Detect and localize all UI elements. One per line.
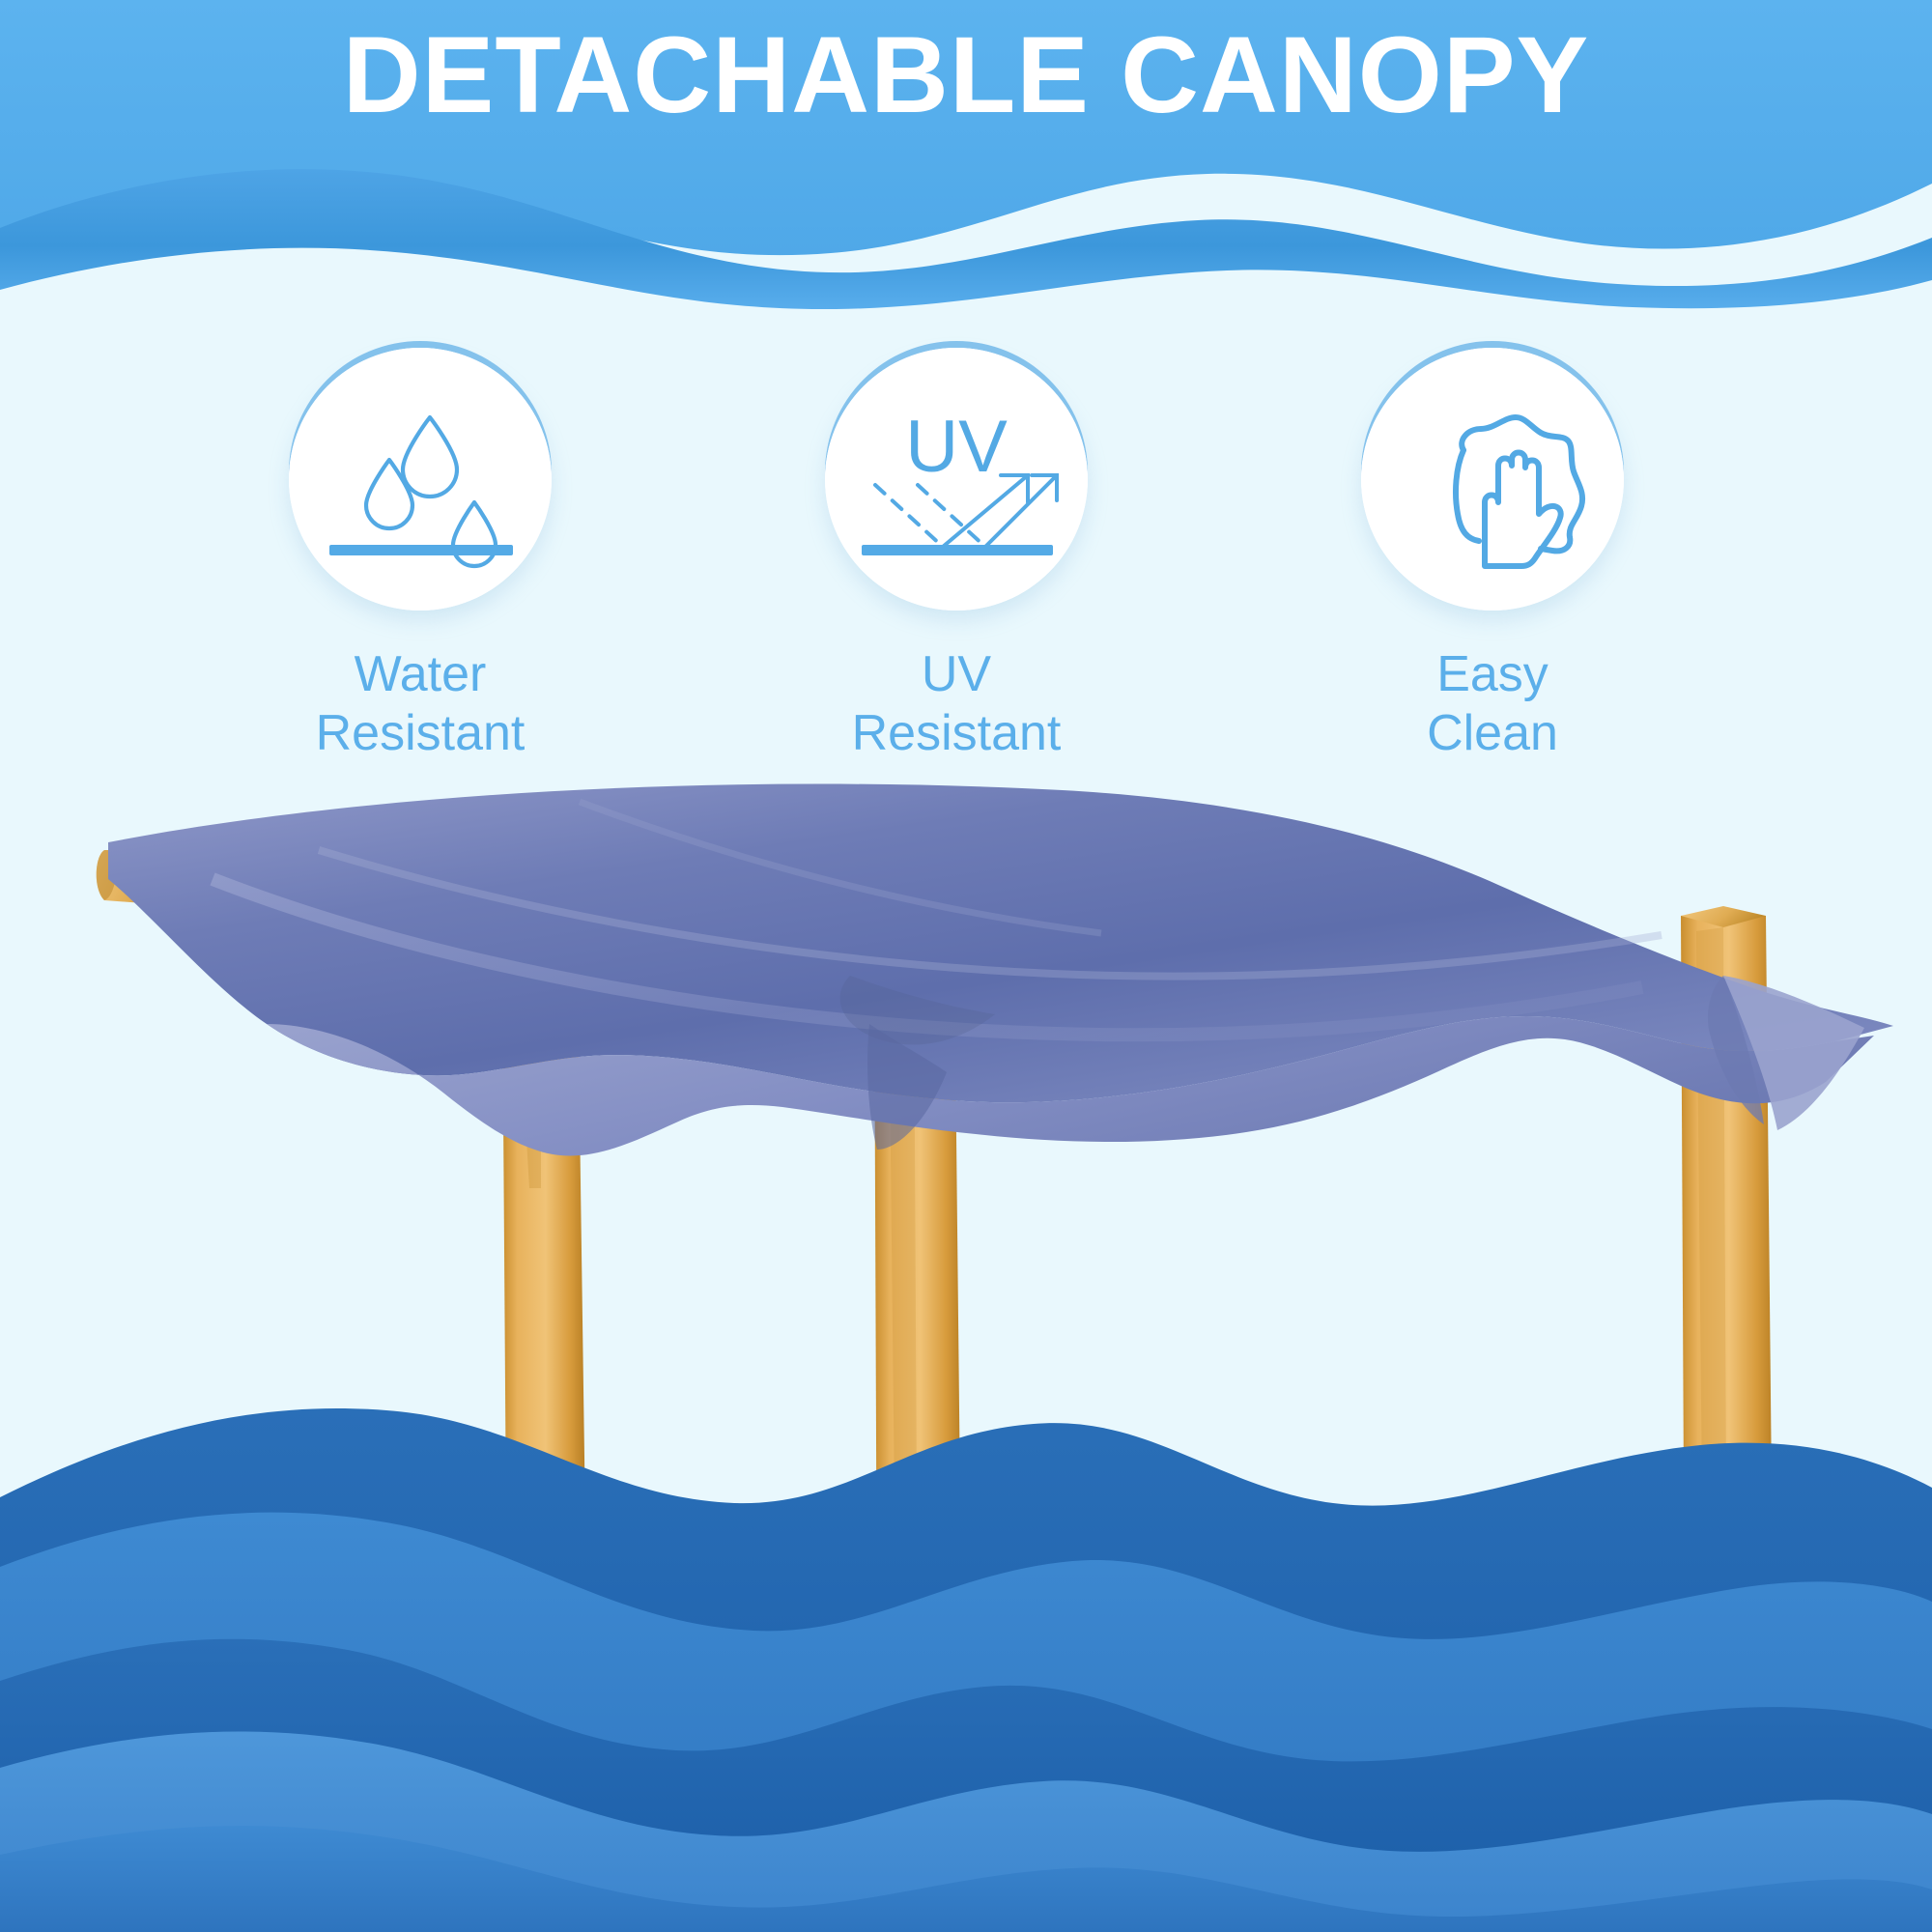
uv-incoming-ray-1 [875, 485, 943, 547]
feature-label-uv-line2: Resistant [753, 704, 1159, 763]
feature-water-resistant[interactable]: Water Resistant [217, 348, 623, 764]
feature-easy-clean[interactable]: Easy Clean [1290, 348, 1695, 764]
uv-surface-bar [862, 545, 1053, 555]
uv-rays-icon: UV [825, 348, 1088, 611]
cloth-shape [1462, 417, 1582, 551]
feature-label-clean-line2: Clean [1290, 704, 1695, 763]
water-drops-icon [289, 348, 552, 611]
product-feature-poster: DETACHABLE CANOPY Water [0, 0, 1932, 1932]
badge-circle-water [289, 348, 552, 611]
feature-label-uv-line1: UV [753, 645, 1159, 704]
uv-icon-text: UV [905, 406, 1008, 488]
feature-label-uv: UV Resistant [753, 645, 1159, 764]
header-banner: DETACHABLE CANOPY [0, 0, 1932, 309]
feature-badge-row: Water Resistant UV [0, 348, 1932, 753]
feature-uv-resistant[interactable]: UV [753, 348, 1159, 764]
badge-circle-uv: UV [825, 348, 1088, 611]
cloth-left-edge [1456, 450, 1479, 541]
badge-inner-uv: UV [825, 348, 1088, 611]
feature-label-clean-line1: Easy [1290, 645, 1695, 704]
blue-fabric-canopy [108, 784, 1893, 1156]
hand-wiping-cloth-icon [1361, 348, 1624, 611]
feature-label-clean: Easy Clean [1290, 645, 1695, 764]
badge-inner-water [289, 348, 552, 611]
water-surface-bar [329, 545, 513, 555]
badge-inner-clean [1361, 348, 1624, 611]
bottom-wave-decoration [0, 1352, 1932, 1932]
feature-label-water-line1: Water [217, 645, 623, 704]
feature-label-water: Water Resistant [217, 645, 623, 764]
page-title: DETACHABLE CANOPY [0, 21, 1932, 129]
feature-label-water-line2: Resistant [217, 704, 623, 763]
badge-circle-clean [1361, 348, 1624, 611]
